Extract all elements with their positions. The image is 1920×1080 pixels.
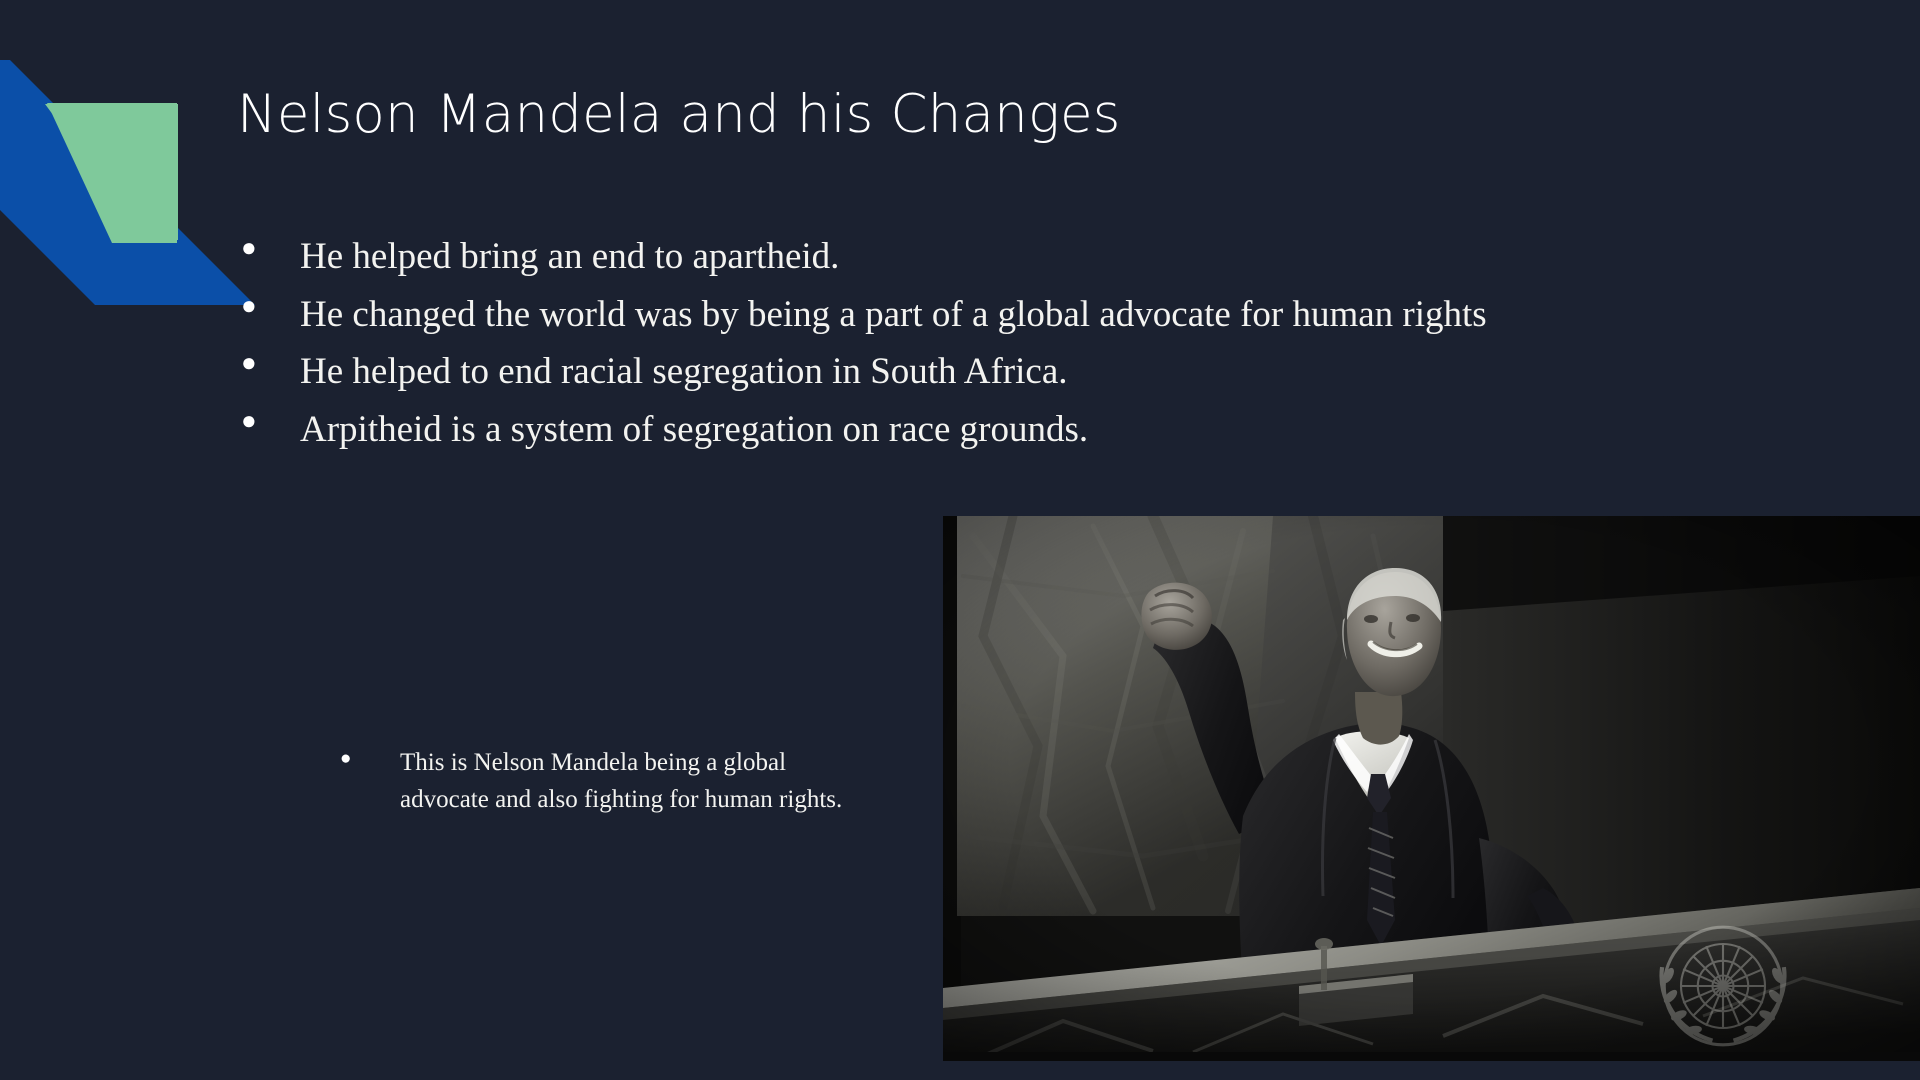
list-item-text: He helped bring an end to apartheid. bbox=[300, 228, 1537, 286]
list-item: ● This is Nelson Mandela being a global … bbox=[340, 745, 860, 818]
green-band bbox=[47, 103, 177, 243]
mandela-photo bbox=[943, 516, 1920, 1061]
list-item: ● He changed the world was by being a pa… bbox=[237, 286, 1537, 344]
bullet-marker-icon: ● bbox=[340, 745, 400, 773]
page-title: Nelson Mandela and his Changes bbox=[237, 85, 1737, 146]
caption-text: This is Nelson Mandela being a global ad… bbox=[400, 745, 860, 818]
bullet-marker-icon: ● bbox=[237, 343, 300, 384]
bullet-marker-icon: ● bbox=[237, 286, 300, 327]
mandela-photo-image bbox=[943, 516, 1920, 1061]
image-caption-list: ● This is Nelson Mandela being a global … bbox=[340, 745, 860, 818]
green-parallelogram bbox=[45, 104, 178, 240]
blue-parallelogram bbox=[0, 60, 255, 305]
list-item: ● Arpitheid is a system of segregation o… bbox=[237, 401, 1537, 459]
list-item-text: Arpitheid is a system of segregation on … bbox=[300, 401, 1537, 459]
list-item-text: He changed the world was by being a part… bbox=[300, 286, 1537, 344]
list-item-text: He helped to end racial segregation in S… bbox=[300, 343, 1537, 401]
slide: Nelson Mandela and his Changes ● He help… bbox=[0, 0, 1920, 1080]
bullet-marker-icon: ● bbox=[237, 401, 300, 442]
list-item: ● He helped to end racial segregation in… bbox=[237, 343, 1537, 401]
bullet-marker-icon: ● bbox=[237, 228, 300, 269]
main-bullet-list: ● He helped bring an end to apartheid. ●… bbox=[237, 228, 1537, 459]
list-item: ● He helped bring an end to apartheid. bbox=[237, 228, 1537, 286]
